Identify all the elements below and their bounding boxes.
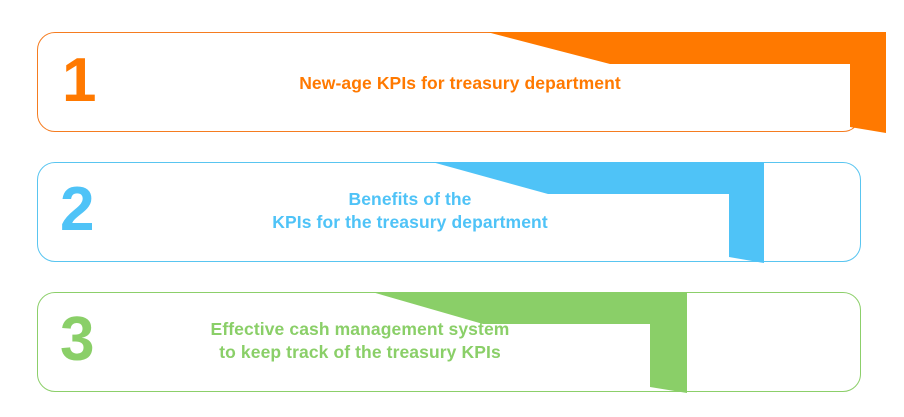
step-text-1: New-age KPIs for treasury department xyxy=(150,72,770,95)
step-text-line: New-age KPIs for treasury department xyxy=(150,72,770,95)
step-text-line: KPIs for the treasury department xyxy=(120,211,700,234)
step-list-graphic: 1 New-age KPIs for treasury department 2… xyxy=(0,0,904,417)
step-text-line: Benefits of the xyxy=(120,188,700,211)
step-row-1[interactable]: 1 New-age KPIs for treasury department xyxy=(0,0,904,145)
step-number-1: 1 xyxy=(62,50,95,112)
step-row-3[interactable]: 3 Effective cash management system to ke… xyxy=(0,260,904,410)
step-row-2[interactable]: 2 Benefits of the KPIs for the treasury … xyxy=(0,130,904,275)
step-text-3: Effective cash management system to keep… xyxy=(80,318,640,364)
step-text-2: Benefits of the KPIs for the treasury de… xyxy=(120,188,700,234)
step-text-line: Effective cash management system xyxy=(80,318,640,341)
step-number-2: 2 xyxy=(60,179,93,241)
step-text-line: to keep track of the treasury KPIs xyxy=(80,341,640,364)
